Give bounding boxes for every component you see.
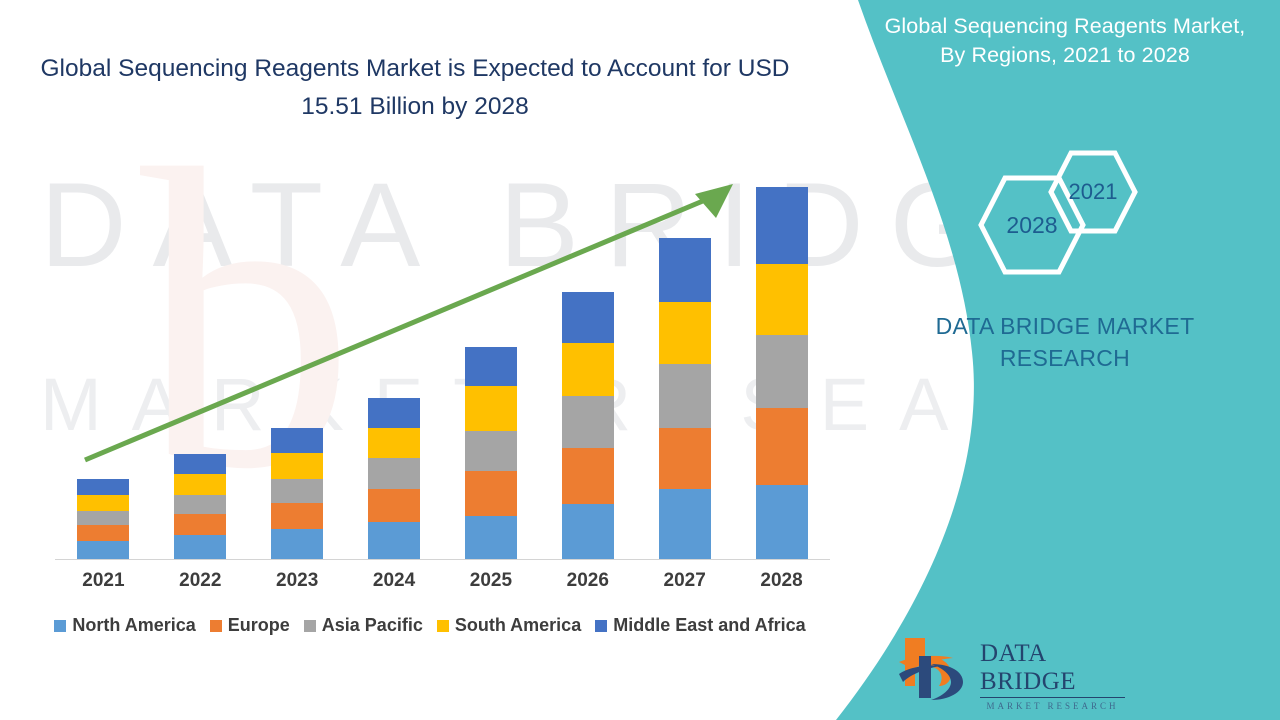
hexagon-end-year-label: 2028 bbox=[1006, 212, 1057, 239]
bar-segment bbox=[562, 448, 614, 504]
bar-segment bbox=[756, 264, 808, 335]
legend-item[interactable]: Middle East and Africa bbox=[595, 615, 805, 636]
bar-segment bbox=[659, 428, 711, 489]
legend-label: Middle East and Africa bbox=[613, 615, 805, 636]
x-axis-line bbox=[55, 559, 830, 560]
bar-segment bbox=[271, 428, 323, 453]
logo-mark-icon bbox=[895, 634, 975, 704]
bar-segment bbox=[77, 541, 129, 559]
stacked-bar bbox=[659, 238, 711, 559]
bar-segment bbox=[562, 504, 614, 559]
stacked-bar bbox=[465, 347, 517, 559]
legend-item[interactable]: North America bbox=[54, 615, 195, 636]
legend-label: South America bbox=[455, 615, 581, 636]
chart-title: Global Sequencing Reagents Market is Exp… bbox=[40, 50, 790, 126]
bar-segment bbox=[77, 479, 129, 495]
bar-segment bbox=[465, 516, 517, 559]
bar-segment bbox=[659, 302, 711, 364]
bar-segment bbox=[77, 525, 129, 541]
bar-segment bbox=[368, 489, 420, 522]
bar-segment bbox=[756, 485, 808, 559]
bar-segment bbox=[271, 529, 323, 559]
legend-label: Asia Pacific bbox=[322, 615, 423, 636]
stacked-bar bbox=[368, 398, 420, 559]
bar-segment bbox=[271, 503, 323, 529]
bar-segment bbox=[659, 489, 711, 559]
logo-main-text: DATA BRIDGE bbox=[980, 640, 1125, 698]
bar-segment bbox=[77, 495, 129, 511]
legend-swatch-icon bbox=[54, 620, 66, 632]
panel-brand-name: DATA BRIDGE MARKET RESEARCH bbox=[870, 310, 1260, 374]
x-axis-label: 2022 bbox=[155, 570, 245, 592]
panel-title: Global Sequencing Reagents Market, By Re… bbox=[880, 12, 1250, 70]
legend-swatch-icon bbox=[595, 620, 607, 632]
bar-segment bbox=[368, 398, 420, 428]
legend-item[interactable]: South America bbox=[437, 615, 581, 636]
bar-segment bbox=[368, 458, 420, 489]
legend-swatch-icon bbox=[304, 620, 316, 632]
bar-segment bbox=[368, 428, 420, 458]
bar-segment bbox=[465, 386, 517, 431]
bar-segment bbox=[465, 347, 517, 386]
bar-segment bbox=[271, 479, 323, 503]
bar-segment bbox=[756, 408, 808, 485]
growth-arrow-icon bbox=[55, 170, 830, 560]
company-logo: DATA BRIDGE MARKET RESEARCH bbox=[895, 628, 1125, 708]
x-axis-label: 2023 bbox=[252, 570, 342, 592]
bar-segment bbox=[77, 511, 129, 525]
bar-segment bbox=[465, 431, 517, 471]
bar-segment bbox=[368, 522, 420, 559]
bar-segment bbox=[174, 495, 226, 514]
x-axis-label: 2025 bbox=[446, 570, 536, 592]
bar-segment bbox=[174, 514, 226, 535]
bar-segment bbox=[174, 454, 226, 474]
hexagon-start-year: 2021 bbox=[1048, 150, 1138, 234]
x-axis-label: 2024 bbox=[349, 570, 439, 592]
legend-item[interactable]: Europe bbox=[210, 615, 290, 636]
panel-content: Global Sequencing Reagents Market, By Re… bbox=[850, 0, 1280, 720]
bar-segment bbox=[659, 364, 711, 428]
chart-area: Global Sequencing Reagents Market is Exp… bbox=[0, 0, 860, 720]
stacked-bar bbox=[271, 428, 323, 559]
bar-segment bbox=[174, 535, 226, 559]
x-axis-label: 2021 bbox=[58, 570, 148, 592]
x-axis-label: 2026 bbox=[543, 570, 633, 592]
bar-segment bbox=[271, 453, 323, 479]
logo-sub-text: MARKET RESEARCH bbox=[980, 701, 1125, 711]
stacked-bar bbox=[77, 479, 129, 559]
bar-segment bbox=[562, 343, 614, 396]
bar-segment bbox=[562, 292, 614, 343]
legend-item[interactable]: Asia Pacific bbox=[304, 615, 423, 636]
stacked-bar bbox=[756, 187, 808, 559]
hexagon-start-year-label: 2021 bbox=[1069, 179, 1118, 205]
bar-segment bbox=[174, 474, 226, 495]
x-axis-label: 2028 bbox=[737, 570, 827, 592]
bar-segment bbox=[756, 335, 808, 408]
logo-text: DATA BRIDGE MARKET RESEARCH bbox=[980, 640, 1125, 711]
x-axis-label: 2027 bbox=[640, 570, 730, 592]
chart-legend: North AmericaEuropeAsia PacificSouth Ame… bbox=[0, 615, 860, 636]
legend-swatch-icon bbox=[210, 620, 222, 632]
x-axis-labels: 20212022202320242025202620272028 bbox=[55, 570, 830, 600]
stacked-bar bbox=[562, 292, 614, 559]
bar-segment bbox=[562, 396, 614, 448]
plot-area bbox=[55, 170, 830, 560]
legend-label: Europe bbox=[228, 615, 290, 636]
stacked-bar bbox=[174, 454, 226, 559]
legend-swatch-icon bbox=[437, 620, 449, 632]
bar-segment bbox=[756, 187, 808, 264]
bar-segment bbox=[659, 238, 711, 302]
bar-segment bbox=[465, 471, 517, 516]
hexagon-group: 2028 2021 bbox=[970, 150, 1200, 280]
legend-label: North America bbox=[72, 615, 195, 636]
